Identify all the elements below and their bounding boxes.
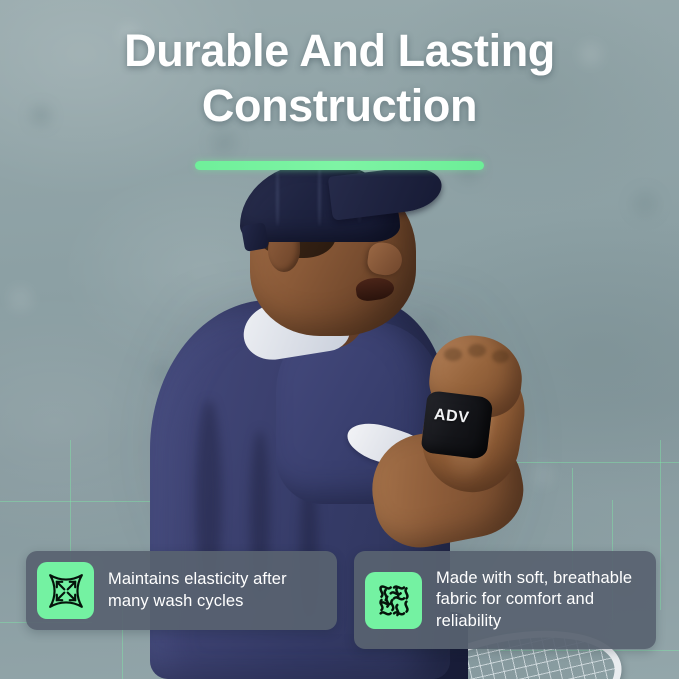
feature-card-text: Made with soft, breathable fabric for co… [436,568,642,632]
cap-strap [241,222,269,252]
cap-seam [276,168,279,226]
headline-line-1: Durable And Lasting [124,25,555,76]
product-feature-image: ADV Durable And Lasting Construction [0,0,679,679]
knuckle [468,344,486,357]
woven-fabric-icon [365,572,422,629]
headline: Durable And Lasting Construction [0,24,679,134]
feature-card-elasticity: Maintains elasticity after many wash cyc… [26,551,337,630]
accent-divider [195,161,484,170]
headline-line-2: Construction [40,79,639,134]
knuckle [492,350,509,363]
wristband-logo: ADV [433,406,470,428]
feature-card-fabric: Made with soft, breathable fabric for co… [354,551,656,649]
feature-card-text: Maintains elasticity after many wash cyc… [108,569,323,612]
knuckle [444,348,462,361]
stretch-icon [37,562,94,619]
feature-cards: Maintains elasticity after many wash cyc… [26,551,656,649]
cap-seam [318,164,321,226]
